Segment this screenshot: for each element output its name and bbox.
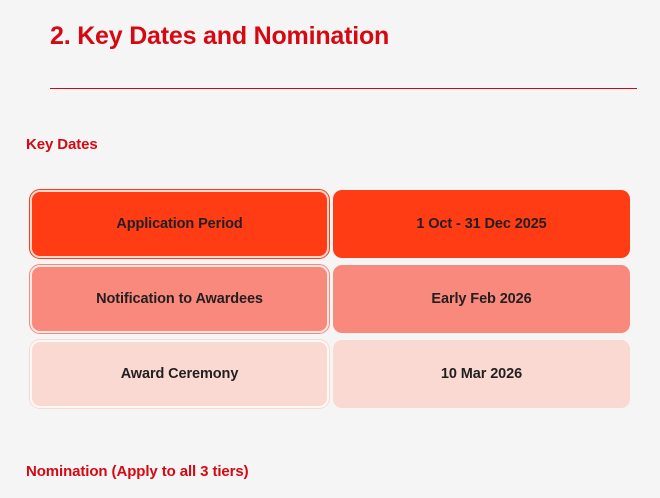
table-cell-label: Notification to Awardees xyxy=(30,265,329,333)
page-title: 2. Key Dates and Nomination xyxy=(50,22,389,51)
table-cell-value: 10 Mar 2026 xyxy=(333,340,630,408)
table-row: Award Ceremony 10 Mar 2026 xyxy=(30,340,630,408)
table-row: Application Period 1 Oct - 31 Dec 2025 xyxy=(30,190,630,258)
table-cell-label: Application Period xyxy=(30,190,329,258)
key-dates-heading: Key Dates xyxy=(26,136,98,153)
slide-page: 2. Key Dates and Nomination Key Dates Ap… xyxy=(0,0,660,498)
title-divider xyxy=(50,88,637,89)
table-row: Notification to Awardees Early Feb 2026 xyxy=(30,265,630,333)
table-cell-value: 1 Oct - 31 Dec 2025 xyxy=(333,190,630,258)
table-cell-label: Award Ceremony xyxy=(30,340,329,408)
nomination-heading: Nomination (Apply to all 3 tiers) xyxy=(26,463,249,480)
key-dates-table: Application Period 1 Oct - 31 Dec 2025 N… xyxy=(30,190,630,408)
table-cell-value: Early Feb 2026 xyxy=(333,265,630,333)
